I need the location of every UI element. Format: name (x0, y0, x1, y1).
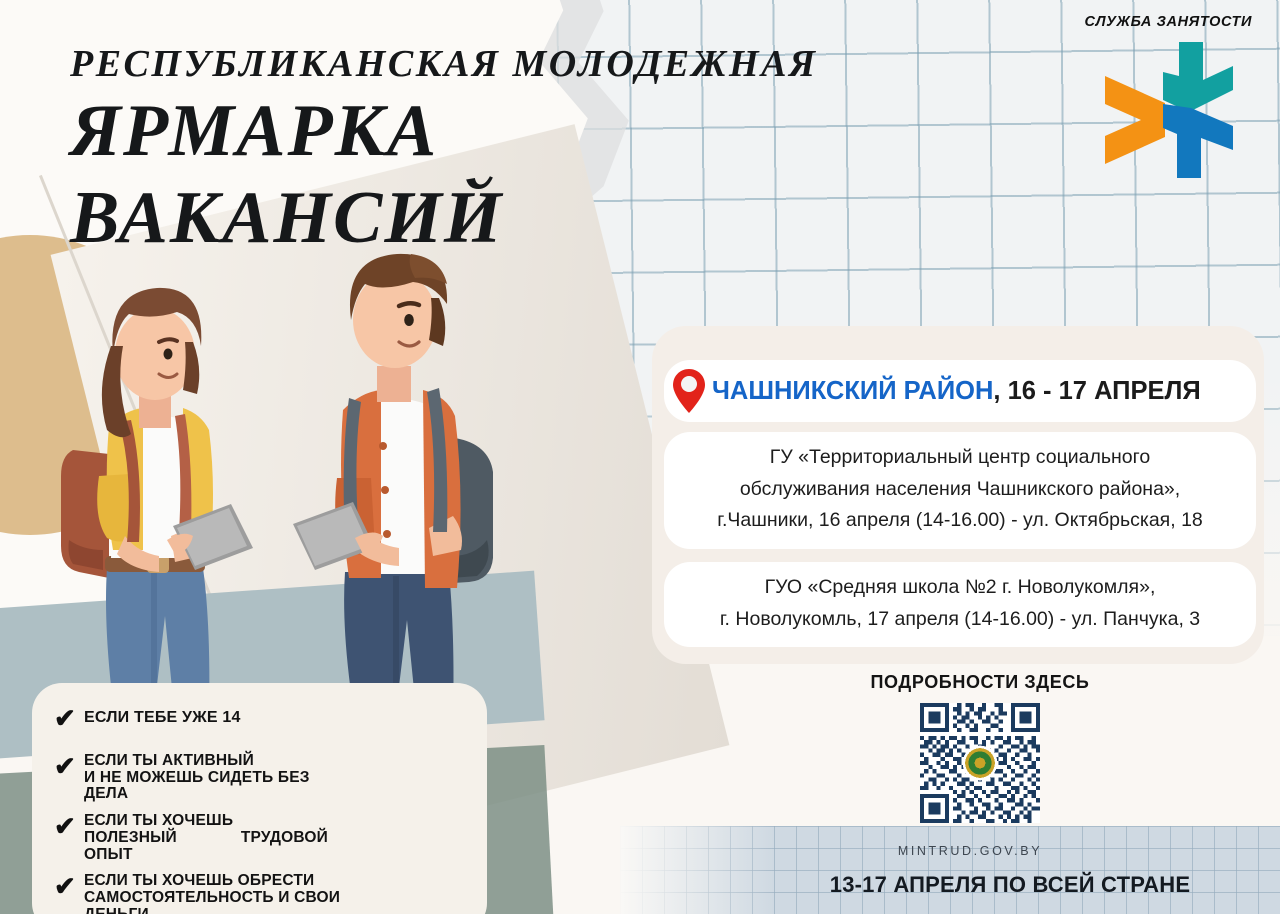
qr-title: ПОДРОБНОСТИ ЗДЕСЬ (855, 672, 1105, 693)
check-mark-icon: ✔ (54, 705, 84, 731)
venue-1-line-1: ГУ «Территориальный центр социального (678, 442, 1242, 474)
check-mark-icon: ✔ (54, 753, 84, 779)
checklist-item-3-text: ЕСЛИ ТЫ ХОЧЕШЬ ОБРЕСТИ САМОСТОЯТЕЛЬНОСТЬ… (84, 873, 340, 914)
logo-caption: СЛУЖБА ЗАНЯТОСТИ (1085, 14, 1253, 30)
list-item: ✔ ЕСЛИ ТЫ АКТИВНЫЙ И НЕ МОЖЕШЬ СИДЕТЬ БЕ… (54, 753, 467, 803)
title-line-1: РЕСПУБЛИКАНСКАЯ МОЛОДЕЖНАЯ (70, 42, 818, 86)
map-pin-icon (672, 368, 706, 414)
checklist-item-0-text: ЕСЛИ ТЕБЕ УЖЕ 14 (84, 709, 241, 726)
employment-service-logo-icon (1093, 34, 1243, 184)
eligibility-checklist-card: ✔ ЕСЛИ ТЕБЕ УЖЕ 14 ✔ ЕСЛИ ТЫ АКТИВНЫЙ И … (32, 683, 487, 914)
event-header-text: ЧАШНИКСКИЙ РАЙОН, 16 - 17 АПРЕЛЯ (712, 377, 1201, 406)
venue-1-line-2: обслуживания населения Чашникского район… (678, 474, 1242, 506)
checklist-item-2-line-2: ПОЛЕЗНЫЙТРУДОВОЙ (84, 830, 328, 847)
poster-canvas: РЕСПУБЛИКАНСКАЯ МОЛОДЕЖНАЯ ЯРМАРКА ВАКАН… (0, 0, 1280, 914)
venue-2-line-1: ГУО «Средняя школа №2 г. Новолукомля», (678, 572, 1242, 604)
page-title: РЕСПУБЛИКАНСКАЯ МОЛОДЕЖНАЯ ЯРМАРКА ВАКАН… (70, 42, 818, 254)
event-location-name: ЧАШНИКСКИЙ РАЙОН (712, 377, 993, 405)
event-info-card: ЧАШНИКСКИЙ РАЙОН, 16 - 17 АПРЕЛЯ ГУ «Тер… (652, 326, 1264, 664)
venue-2-line-2: г. Новолукомль, 17 апреля (14-16.00) - у… (678, 604, 1242, 636)
venue-1-line-3: г.Чашники, 16 апреля (14-16.00) - ул. Ок… (678, 505, 1242, 537)
event-dates: , 16 - 17 АПРЕЛЯ (993, 377, 1200, 405)
event-location-header: ЧАШНИКСКИЙ РАЙОН, 16 - 17 АПРЕЛЯ (664, 360, 1256, 422)
logo-block: СЛУЖБА ЗАНЯТОСТИ (1085, 14, 1253, 184)
checklist-item-2-text: ЕСЛИ ТЫ ХОЧЕШЬ ПОЛЕЗНЫЙТРУДОВОЙ ОПЫТ (84, 813, 328, 863)
check-mark-icon: ✔ (54, 873, 84, 899)
two-students-with-tablets-illustration (55, 250, 535, 720)
boy-figure (293, 254, 493, 720)
venue-1-block: ГУ «Территориальный центр социального об… (664, 432, 1256, 549)
list-item: ✔ ЕСЛИ ТЫ ХОЧЕШЬ ПОЛЕЗНЫЙТРУДОВОЙ ОПЫТ (54, 813, 467, 863)
venue-2-block: ГУО «Средняя школа №2 г. Новолукомля», г… (664, 562, 1256, 647)
title-line-2: ЯРМАРКА (70, 96, 818, 167)
qr-code-icon[interactable] (920, 703, 1040, 823)
list-item: ✔ ЕСЛИ ТЫ ХОЧЕШЬ ОБРЕСТИ САМОСТОЯТЕЛЬНОС… (54, 873, 467, 914)
checklist-item-1-text: ЕСЛИ ТЫ АКТИВНЫЙ И НЕ МОЖЕШЬ СИДЕТЬ БЕЗ … (84, 753, 310, 803)
title-line-3: ВАКАНСИЙ (70, 183, 818, 254)
list-item: ✔ ЕСЛИ ТЕБЕ УЖЕ 14 (54, 705, 467, 731)
check-mark-icon: ✔ (54, 813, 84, 839)
background-fine-grid-band (620, 826, 1280, 914)
country-date-line: 13-17 АПРЕЛЯ ПО ВСЕЙ СТРАНЕ (820, 872, 1200, 898)
girl-figure (61, 288, 253, 720)
qr-section: ПОДРОБНОСТИ ЗДЕСЬ (855, 672, 1105, 823)
